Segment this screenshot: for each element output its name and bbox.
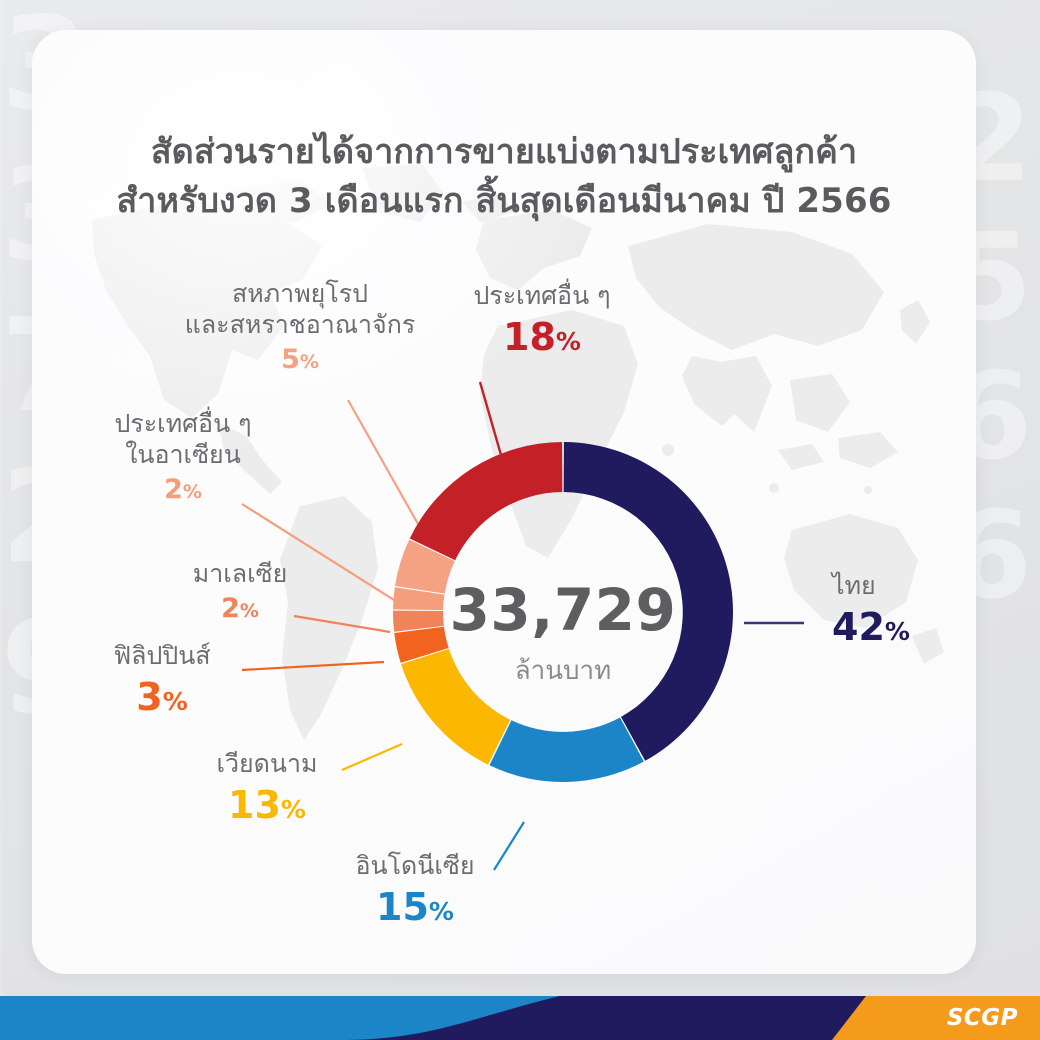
label-indonesia-name: อินโดนีเซีย	[320, 850, 510, 881]
title-line-2: สำหรับงวด 3 เดือนแรก สิ้นสุดเดือนมีนาคม …	[32, 177, 976, 226]
label-vietnam-percent-number: 13	[228, 783, 281, 827]
label-indonesia-percent-symbol: %	[429, 897, 454, 926]
content-card: สัดส่วนรายได้จากการขายแบ่งตามประเทศลูกค้…	[32, 30, 976, 974]
slice-indonesia	[489, 718, 643, 782]
label-asean-others-name-line1: ประเทศอื่น ๆ	[74, 408, 292, 439]
page-title: สัดส่วนรายได้จากการขายแบ่งตามประเทศลูกค้…	[32, 128, 976, 227]
label-malaysia-percent-number: 2	[221, 593, 240, 624]
label-asean-others-percent-symbol: %	[183, 481, 202, 503]
label-vietnam-name: เวียดนาม	[177, 748, 357, 779]
label-malaysia-percent: 2%	[160, 592, 320, 625]
label-philippines-name: ฟิลิปปินส์	[72, 640, 252, 671]
label-malaysia-name: มาเลเซีย	[160, 558, 320, 589]
label-indonesia-percent: 15%	[320, 884, 510, 931]
label-philippines: ฟิลิปปินส์ 3%	[72, 640, 252, 721]
label-thailand-percent-symbol: %	[885, 617, 910, 646]
label-others: ประเทศอื่น ๆ 18%	[432, 280, 652, 361]
label-others-percent: 18%	[432, 314, 652, 361]
label-asean-others-percent-number: 2	[164, 474, 183, 505]
title-line-1: สัดส่วนรายได้จากการขายแบ่งตามประเทศลูกค้…	[32, 128, 976, 177]
scgp-logo: SCGP	[947, 1005, 1018, 1031]
label-asean-others: ประเทศอื่น ๆ ในอาเซียน 2%	[74, 408, 292, 506]
label-thailand-percent: 42%	[832, 604, 910, 651]
label-thailand-percent-number: 42	[832, 605, 885, 649]
label-others-percent-number: 18	[503, 315, 556, 359]
footer-bar: SCGP	[0, 996, 1040, 1040]
label-philippines-percent: 3%	[72, 674, 252, 721]
label-vietnam-percent: 13%	[177, 782, 357, 829]
label-eu-uk-percent-symbol: %	[300, 351, 319, 373]
label-asean-others-name-line2: ในอาเซียน	[74, 439, 292, 470]
label-eu-uk-name-line2: และสหราชอาณาจักร	[140, 309, 460, 340]
label-vietnam: เวียดนาม 13%	[177, 748, 357, 829]
label-malaysia-percent-symbol: %	[240, 600, 259, 622]
center-value: 33,729	[353, 576, 773, 644]
label-thailand-name: ไทย	[832, 570, 910, 601]
label-eu-uk-percent-number: 5	[281, 344, 300, 375]
label-eu-uk-percent: 5%	[140, 343, 460, 376]
label-others-name: ประเทศอื่น ๆ	[432, 280, 652, 311]
label-eu-uk-name-line1: สหภาพยุโรป	[140, 278, 460, 309]
label-thailand: ไทย 42%	[832, 570, 910, 651]
label-eu-uk: สหภาพยุโรป และสหราชอาณาจักร 5%	[140, 278, 460, 376]
label-indonesia: อินโดนีเซีย 15%	[320, 850, 510, 931]
infographic-stage: 33729 2566	[0, 0, 1040, 1040]
label-asean-others-percent: 2%	[74, 473, 292, 506]
label-indonesia-percent-number: 15	[376, 885, 429, 929]
slice-others	[410, 442, 563, 560]
center-unit: ล้านบาท	[353, 650, 773, 691]
label-philippines-percent-symbol: %	[163, 687, 188, 716]
label-malaysia: มาเลเซีย 2%	[160, 558, 320, 625]
label-vietnam-percent-symbol: %	[281, 795, 306, 824]
label-philippines-percent-number: 3	[136, 675, 162, 719]
label-others-percent-symbol: %	[556, 327, 581, 356]
